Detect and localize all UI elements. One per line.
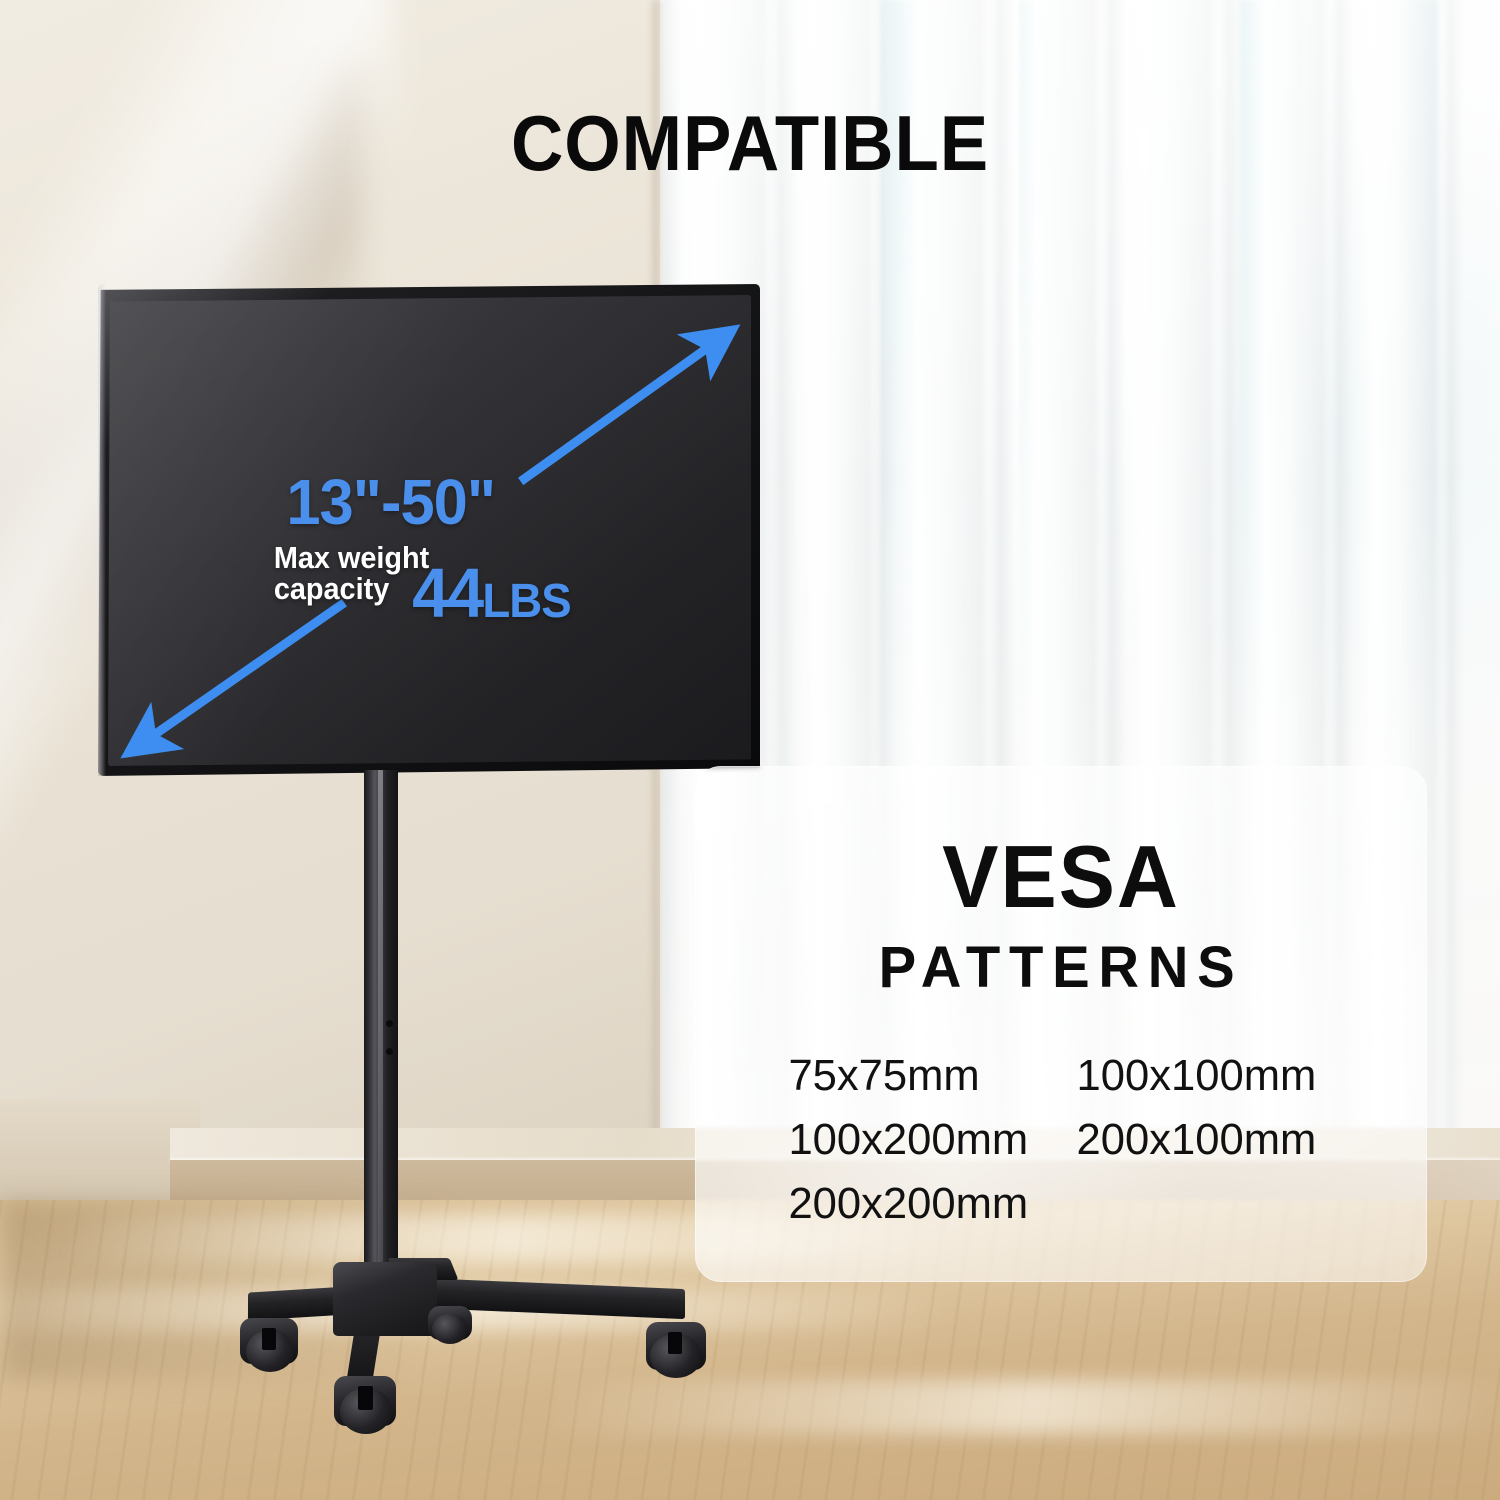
caster-left-gap	[262, 1328, 276, 1350]
max-weight-line-2: capacity	[274, 574, 429, 605]
base-hub	[333, 1262, 437, 1336]
max-weight-value: 44LBS	[412, 553, 571, 633]
vesa-pattern-item: 100x100mm	[1077, 1044, 1386, 1108]
vesa-title: VESA	[710, 826, 1413, 928]
tv-edge-highlight	[98, 284, 106, 776]
weight-number: 44	[412, 554, 482, 632]
caster-center-back-wheel	[432, 1314, 468, 1344]
vesa-row: 100x200mm 200x100mm	[787, 1108, 1387, 1172]
product-feature-image: COMPATIBLE 13"-50" Max weig	[0, 0, 1500, 1500]
vesa-patterns-panel: VESA PATTERNS 75x75mm 100x100mm 100x200m…	[695, 766, 1427, 1282]
max-weight-caption: Max weight capacity	[274, 543, 429, 604]
vesa-subtitle: PATTERNS	[706, 934, 1416, 1001]
floor-light-streak	[540, 1380, 1500, 1434]
tv-screen: 13"-50" Max weight capacity 44LBS	[108, 295, 751, 766]
caster-front-gap	[358, 1386, 373, 1410]
page-title: COMPATIBLE	[53, 98, 1448, 189]
stand-pole-screw-hole	[386, 1048, 393, 1055]
vesa-pattern-item	[1077, 1172, 1386, 1236]
vesa-pattern-item: 200x200mm	[788, 1172, 1073, 1236]
vesa-row: 75x75mm 100x100mm	[787, 1044, 1387, 1108]
vesa-pattern-item: 75x75mm	[788, 1044, 1073, 1108]
vesa-pattern-item: 200x100mm	[1077, 1108, 1386, 1172]
caster-right-gap	[668, 1332, 682, 1354]
weight-unit: LBS	[482, 575, 570, 628]
tv-size-range-label: 13"-50"	[286, 465, 495, 539]
stand-pole-highlight	[378, 770, 383, 1270]
vesa-pattern-list: 75x75mm 100x100mm 100x200mm 200x100mm 20…	[787, 1044, 1387, 1237]
vesa-row: 200x200mm	[787, 1172, 1387, 1236]
tv-display: 13"-50" Max weight capacity 44LBS	[98, 284, 760, 776]
stand-pole-screw-hole	[386, 1020, 393, 1027]
vesa-pattern-item: 100x200mm	[788, 1108, 1073, 1172]
max-weight-line-1: Max weight	[274, 543, 429, 574]
